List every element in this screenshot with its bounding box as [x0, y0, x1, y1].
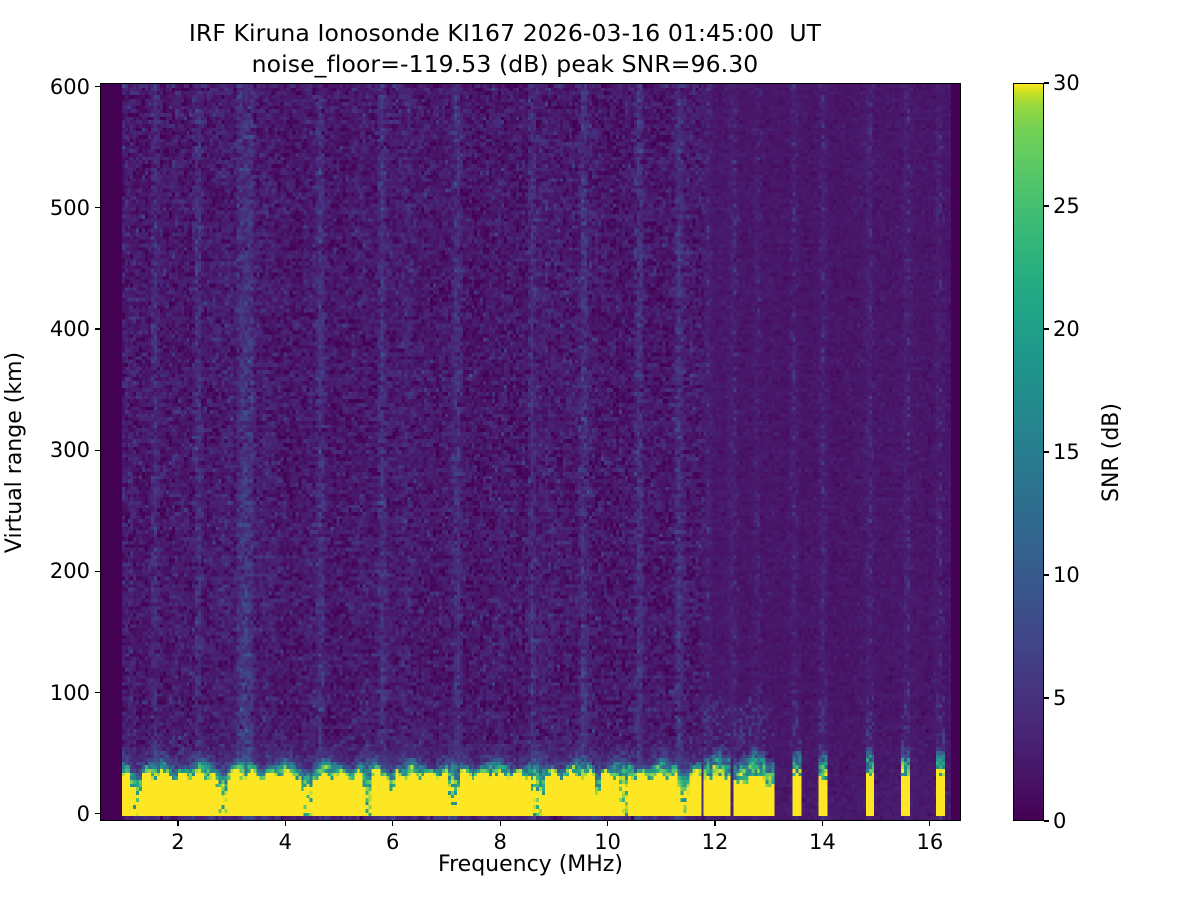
ionogram-plot-area [100, 83, 961, 821]
y-tick-mark [95, 450, 100, 451]
x-tick-label: 14 [809, 830, 836, 854]
y-axis-label: Virtual range (km) [0, 83, 30, 821]
x-axis-label: Frequency (MHz) [100, 852, 961, 877]
colorbar-tick-label: 30 [1053, 71, 1080, 95]
ionogram-figure: IRF Kiruna Ionosonde KI167 2026-03-16 01… [0, 0, 1200, 900]
x-tick-mark [822, 821, 823, 826]
title-line-1: IRF Kiruna Ionosonde KI167 2026-03-16 01… [0, 18, 1010, 49]
y-tick-label: 200 [50, 559, 90, 583]
x-tick-label: 12 [702, 830, 729, 854]
y-tick-mark [95, 692, 100, 693]
y-tick-label: 0 [77, 802, 90, 826]
colorbar-label: SNR (dB) [1096, 83, 1126, 821]
x-tick-label: 16 [916, 830, 943, 854]
x-tick-mark [714, 821, 715, 826]
colorbar-tick-label: 15 [1053, 440, 1080, 464]
x-tick-label: 4 [279, 830, 292, 854]
y-tick-mark [95, 207, 100, 208]
x-tick-label: 8 [493, 830, 506, 854]
title-line-2: noise_floor=-119.53 (dB) peak SNR=96.30 [0, 49, 1010, 80]
snr-colorbar [1013, 83, 1044, 821]
x-tick-label: 6 [386, 830, 399, 854]
figure-title: IRF Kiruna Ionosonde KI167 2026-03-16 01… [0, 18, 1010, 79]
x-tick-mark [392, 821, 393, 826]
y-tick-mark [95, 571, 100, 572]
colorbar-tick-mark [1044, 451, 1049, 452]
colorbar-gradient [1014, 84, 1043, 820]
y-tick-label: 300 [50, 438, 90, 462]
x-tick-mark [607, 821, 608, 826]
colorbar-tick-mark [1044, 328, 1049, 329]
colorbar-tick-mark [1044, 574, 1049, 575]
colorbar-tick-mark [1044, 697, 1049, 698]
colorbar-label-text: SNR (dB) [1099, 403, 1124, 502]
colorbar-tick-label: 25 [1053, 194, 1080, 218]
ionogram-heatmap-canvas [101, 84, 960, 820]
y-tick-label: 100 [50, 681, 90, 705]
y-tick-mark [95, 86, 100, 87]
colorbar-tick-label: 20 [1053, 317, 1080, 341]
y-tick-label: 400 [50, 317, 90, 341]
colorbar-tick-mark [1044, 205, 1049, 206]
x-tick-mark [285, 821, 286, 826]
x-tick-mark [500, 821, 501, 826]
colorbar-tick-label: 5 [1053, 686, 1066, 710]
y-tick-label: 600 [50, 75, 90, 99]
colorbar-tick-mark [1044, 82, 1049, 83]
x-tick-label: 2 [171, 830, 184, 854]
y-axis-label-text: Virtual range (km) [3, 351, 28, 552]
colorbar-tick-label: 10 [1053, 563, 1080, 587]
y-tick-mark [95, 813, 100, 814]
y-tick-label: 500 [50, 196, 90, 220]
y-tick-mark [95, 328, 100, 329]
x-tick-mark [929, 821, 930, 826]
x-tick-label: 10 [594, 830, 621, 854]
x-tick-mark [177, 821, 178, 826]
colorbar-tick-label: 0 [1053, 809, 1066, 833]
colorbar-tick-mark [1044, 820, 1049, 821]
